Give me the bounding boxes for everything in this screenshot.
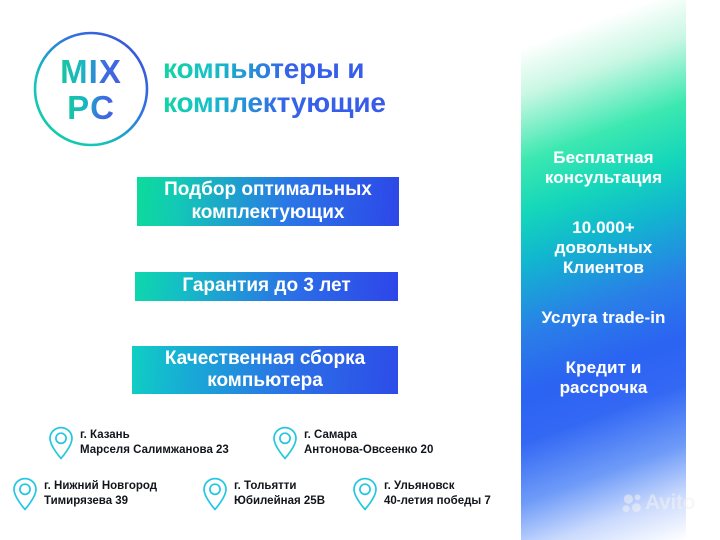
location-city: г. Казань (80, 428, 229, 443)
perk-happy-clients: 10.000+ довольных Клиентов (521, 218, 686, 278)
perk-trade-in: Услуга trade-in (541, 308, 665, 328)
location-city: г. Самара (304, 428, 433, 443)
location-text: г. Нижний Новгород Тимирязева 39 (44, 479, 157, 509)
logo-text-pc: PC (67, 91, 115, 124)
location-item-tolyatti: г. Тольятти Юбилейная 25В (202, 477, 325, 511)
feature-banner-quality-build: Качественная сборка компьютера (132, 346, 398, 394)
location-text: г. Тольятти Юбилейная 25В (234, 479, 325, 509)
location-item-ulyanovsk: г. Ульяновск 40-летия победы 7 (352, 477, 491, 511)
location-address: Тимирязева 39 (44, 494, 157, 509)
location-address: Юбилейная 25В (234, 494, 325, 509)
brand-logo: MIX PC (32, 30, 150, 148)
feature-banner-warranty: Гарантия до 3 лет (135, 272, 398, 301)
logo-wordmark: MIX PC (32, 30, 150, 148)
locations-list: г. Казань Марселя Салимжанова 23 г. Сама… (0, 424, 520, 534)
advertisement-banner: Бесплатная консультация 10.000+ довольны… (0, 0, 720, 540)
location-city: г. Тольятти (234, 479, 325, 494)
perks-list: Бесплатная консультация 10.000+ довольны… (521, 0, 686, 540)
location-address: Марселя Салимжанова 23 (80, 443, 229, 458)
logo-text-mix: MIX (60, 55, 122, 88)
location-item-nizhny-novgorod: г. Нижний Новгород Тимирязева 39 (12, 477, 157, 511)
avito-watermark: Avito (622, 492, 695, 513)
perks-panel: Бесплатная консультация 10.000+ довольны… (521, 0, 686, 540)
location-text: г. Казань Марселя Салимжанова 23 (80, 428, 229, 458)
avito-dots-icon (622, 493, 642, 513)
location-city: г. Нижний Новгород (44, 479, 157, 494)
avito-wordmark: Avito (645, 492, 695, 513)
map-pin-icon (202, 477, 228, 511)
map-pin-icon (48, 426, 74, 460)
location-city: г. Ульяновск (384, 479, 491, 494)
location-text: г. Ульяновск 40-летия победы 7 (384, 479, 491, 509)
perk-free-consultation: Бесплатная консультация (521, 148, 686, 188)
map-pin-icon (12, 477, 38, 511)
map-pin-icon (352, 477, 378, 511)
location-address: Антонова-Овсеенко 20 (304, 443, 433, 458)
perk-credit-installments: Кредит и рассрочка (521, 358, 686, 398)
location-item-samara: г. Самара Антонова-Овсеенко 20 (272, 426, 433, 460)
page-title: компьютеры и комплектующие (163, 52, 493, 120)
location-text: г. Самара Антонова-Овсеенко 20 (304, 428, 433, 458)
location-item-kazan: г. Казань Марселя Салимжанова 23 (48, 426, 229, 460)
map-pin-icon (272, 426, 298, 460)
location-address: 40-летия победы 7 (384, 494, 491, 509)
feature-banner-optimal-parts: Подбор оптимальных комплектующих (137, 177, 399, 226)
